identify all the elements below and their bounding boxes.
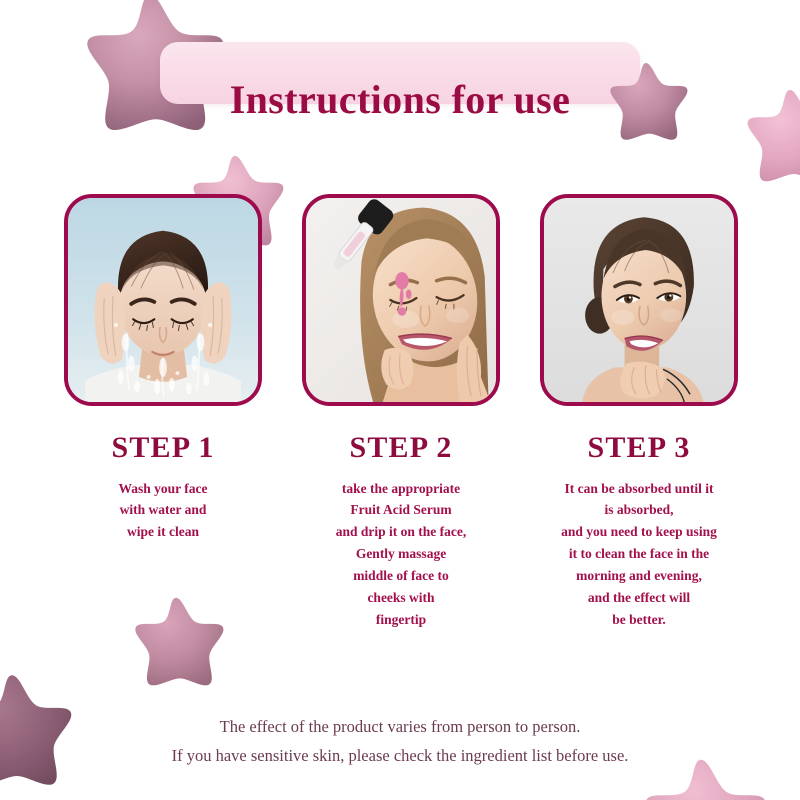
instructions-for-use-poster: Instructions for use bbox=[0, 0, 800, 800]
step-body-line: cheeks with bbox=[282, 587, 520, 609]
step-body-line: be better. bbox=[520, 609, 758, 631]
step-heading-2: STEP 2 bbox=[282, 432, 520, 464]
step-body-line: and the effect will bbox=[520, 587, 758, 609]
step-body-line: fingertip bbox=[282, 609, 520, 631]
step-body-line: is absorbed, bbox=[520, 499, 758, 521]
step-photo-1 bbox=[64, 194, 262, 406]
step-photo-3 bbox=[540, 194, 738, 406]
footer-line-2: If you have sensitive skin, please check… bbox=[0, 741, 800, 770]
step-heading-1: STEP 1 bbox=[44, 432, 282, 464]
step-body-line: Wash your face bbox=[44, 478, 282, 500]
step-body-line: it to clean the face in the bbox=[520, 543, 758, 565]
step-body-1: Wash your face with water and wipe it cl… bbox=[44, 478, 282, 544]
step-body-line: morning and evening, bbox=[520, 565, 758, 587]
step-photo-2 bbox=[302, 194, 500, 406]
star-bottom-left-middle-icon bbox=[128, 592, 224, 680]
woman-smiling-with-clear-skin-illustration bbox=[544, 198, 734, 402]
step-body-line: Fruit Acid Serum bbox=[282, 499, 520, 521]
step-body-line: and drip it on the face, bbox=[282, 521, 520, 543]
step-heading-3: STEP 3 bbox=[520, 432, 758, 464]
footer-disclaimer: The effect of the product varies from pe… bbox=[0, 712, 800, 771]
woman-applying-serum-dropper-to-cheek-illustration bbox=[306, 198, 496, 402]
step-body-line: with water and bbox=[44, 499, 282, 521]
step-body-line: wipe it clean bbox=[44, 521, 282, 543]
step-body-2: take the appropriate Fruit Acid Serum an… bbox=[282, 478, 520, 631]
step-column-1: STEP 1 Wash your face with water and wip… bbox=[44, 432, 282, 543]
step-body-line: Gently massage bbox=[282, 543, 520, 565]
step-body-3: It can be absorbed until it is absorbed,… bbox=[520, 478, 758, 631]
step-column-3: STEP 3 It can be absorbed until it is ab… bbox=[520, 432, 758, 631]
woman-washing-face-with-water-illustration bbox=[68, 198, 258, 402]
star-right-edge-icon bbox=[740, 84, 800, 184]
step-body-line: and you need to keep using bbox=[520, 521, 758, 543]
footer-line-1: The effect of the product varies from pe… bbox=[0, 712, 800, 741]
step-body-line: middle of face to bbox=[282, 565, 520, 587]
step-body-line: take the appropriate bbox=[282, 478, 520, 500]
page-title: Instructions for use bbox=[160, 67, 640, 133]
step-body-line: It can be absorbed until it bbox=[520, 478, 758, 500]
step-column-2: STEP 2 take the appropriate Fruit Acid S… bbox=[282, 432, 520, 631]
